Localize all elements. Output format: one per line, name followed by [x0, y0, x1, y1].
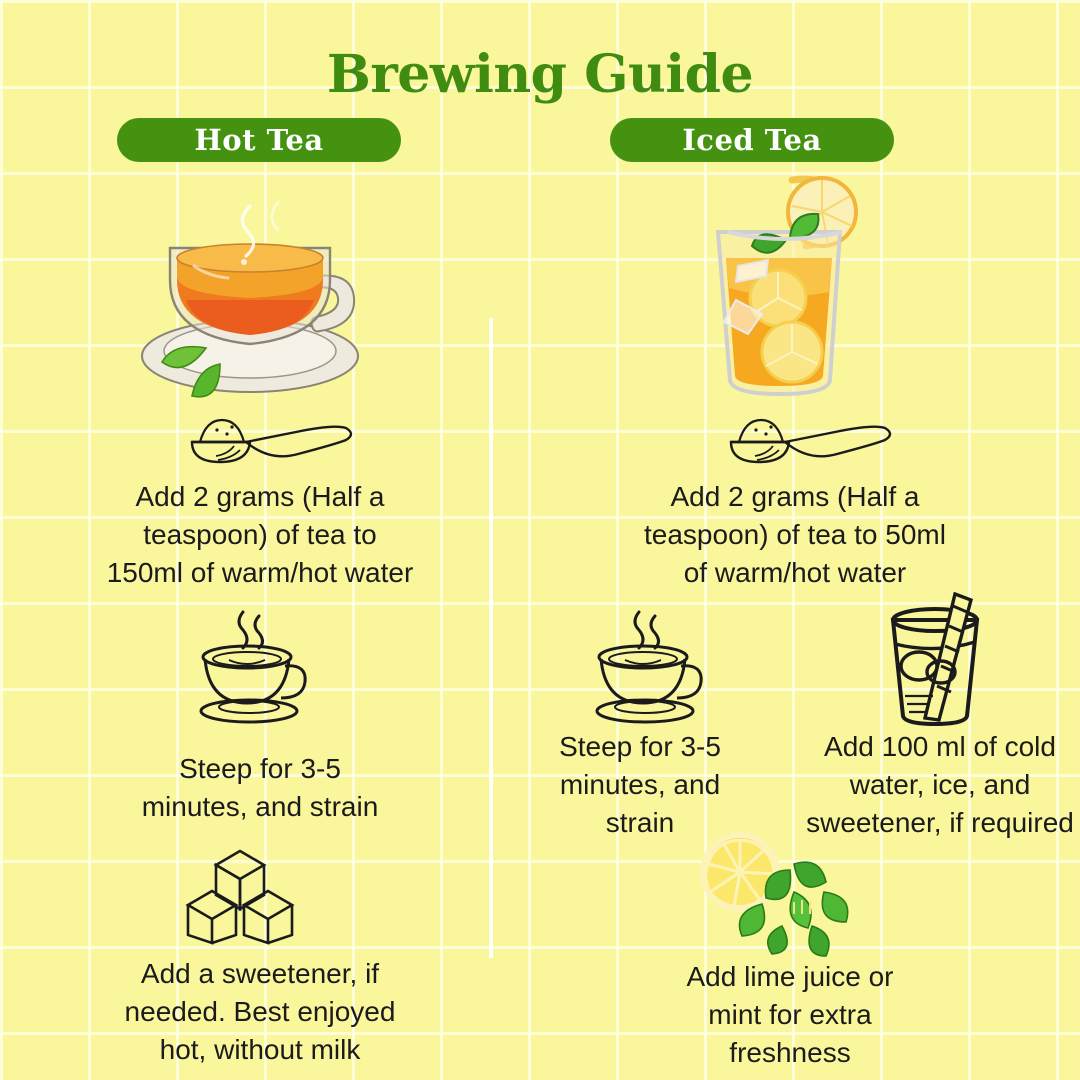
cold-glass-with-straw-icon [883, 600, 988, 728]
sugar-cubes-icon [176, 843, 304, 947]
lemon-and-mint-illustration [686, 830, 862, 958]
page-title: Brewing Guide [0, 44, 1080, 105]
brewing-guide-infographic: Brewing Guide Hot Tea Iced Tea [0, 0, 1080, 1080]
hot-tea-cup-illustration [128, 196, 378, 401]
step-text-iced-4: Add lime juice or mint for extra freshne… [630, 958, 950, 1072]
step-text-hot-1: Add 2 grams (Half a teaspoon) of tea to … [60, 478, 460, 592]
iced-tea-glass-illustration [700, 170, 870, 400]
steaming-teacup-icon [585, 604, 715, 726]
steaming-teacup-icon [189, 604, 319, 726]
spoon-with-tea-leaves-icon [725, 412, 890, 467]
spoon-with-tea-leaves-icon [186, 412, 351, 467]
step-text-iced-2: Steep for 3-5 minutes, and strain [530, 728, 750, 842]
step-text-iced-3: Add 100 ml of cold water, ice, and sweet… [790, 728, 1080, 842]
step-text-hot-3: Add a sweetener, if needed. Best enjoyed… [75, 955, 445, 1069]
section-heading-hot-tea: Hot Tea [117, 118, 401, 162]
section-heading-iced-tea: Iced Tea [610, 118, 894, 162]
step-text-iced-1: Add 2 grams (Half a teaspoon) of tea to … [600, 478, 990, 592]
step-text-hot-2: Steep for 3-5 minutes, and strain [85, 750, 435, 826]
column-divider [489, 318, 493, 958]
